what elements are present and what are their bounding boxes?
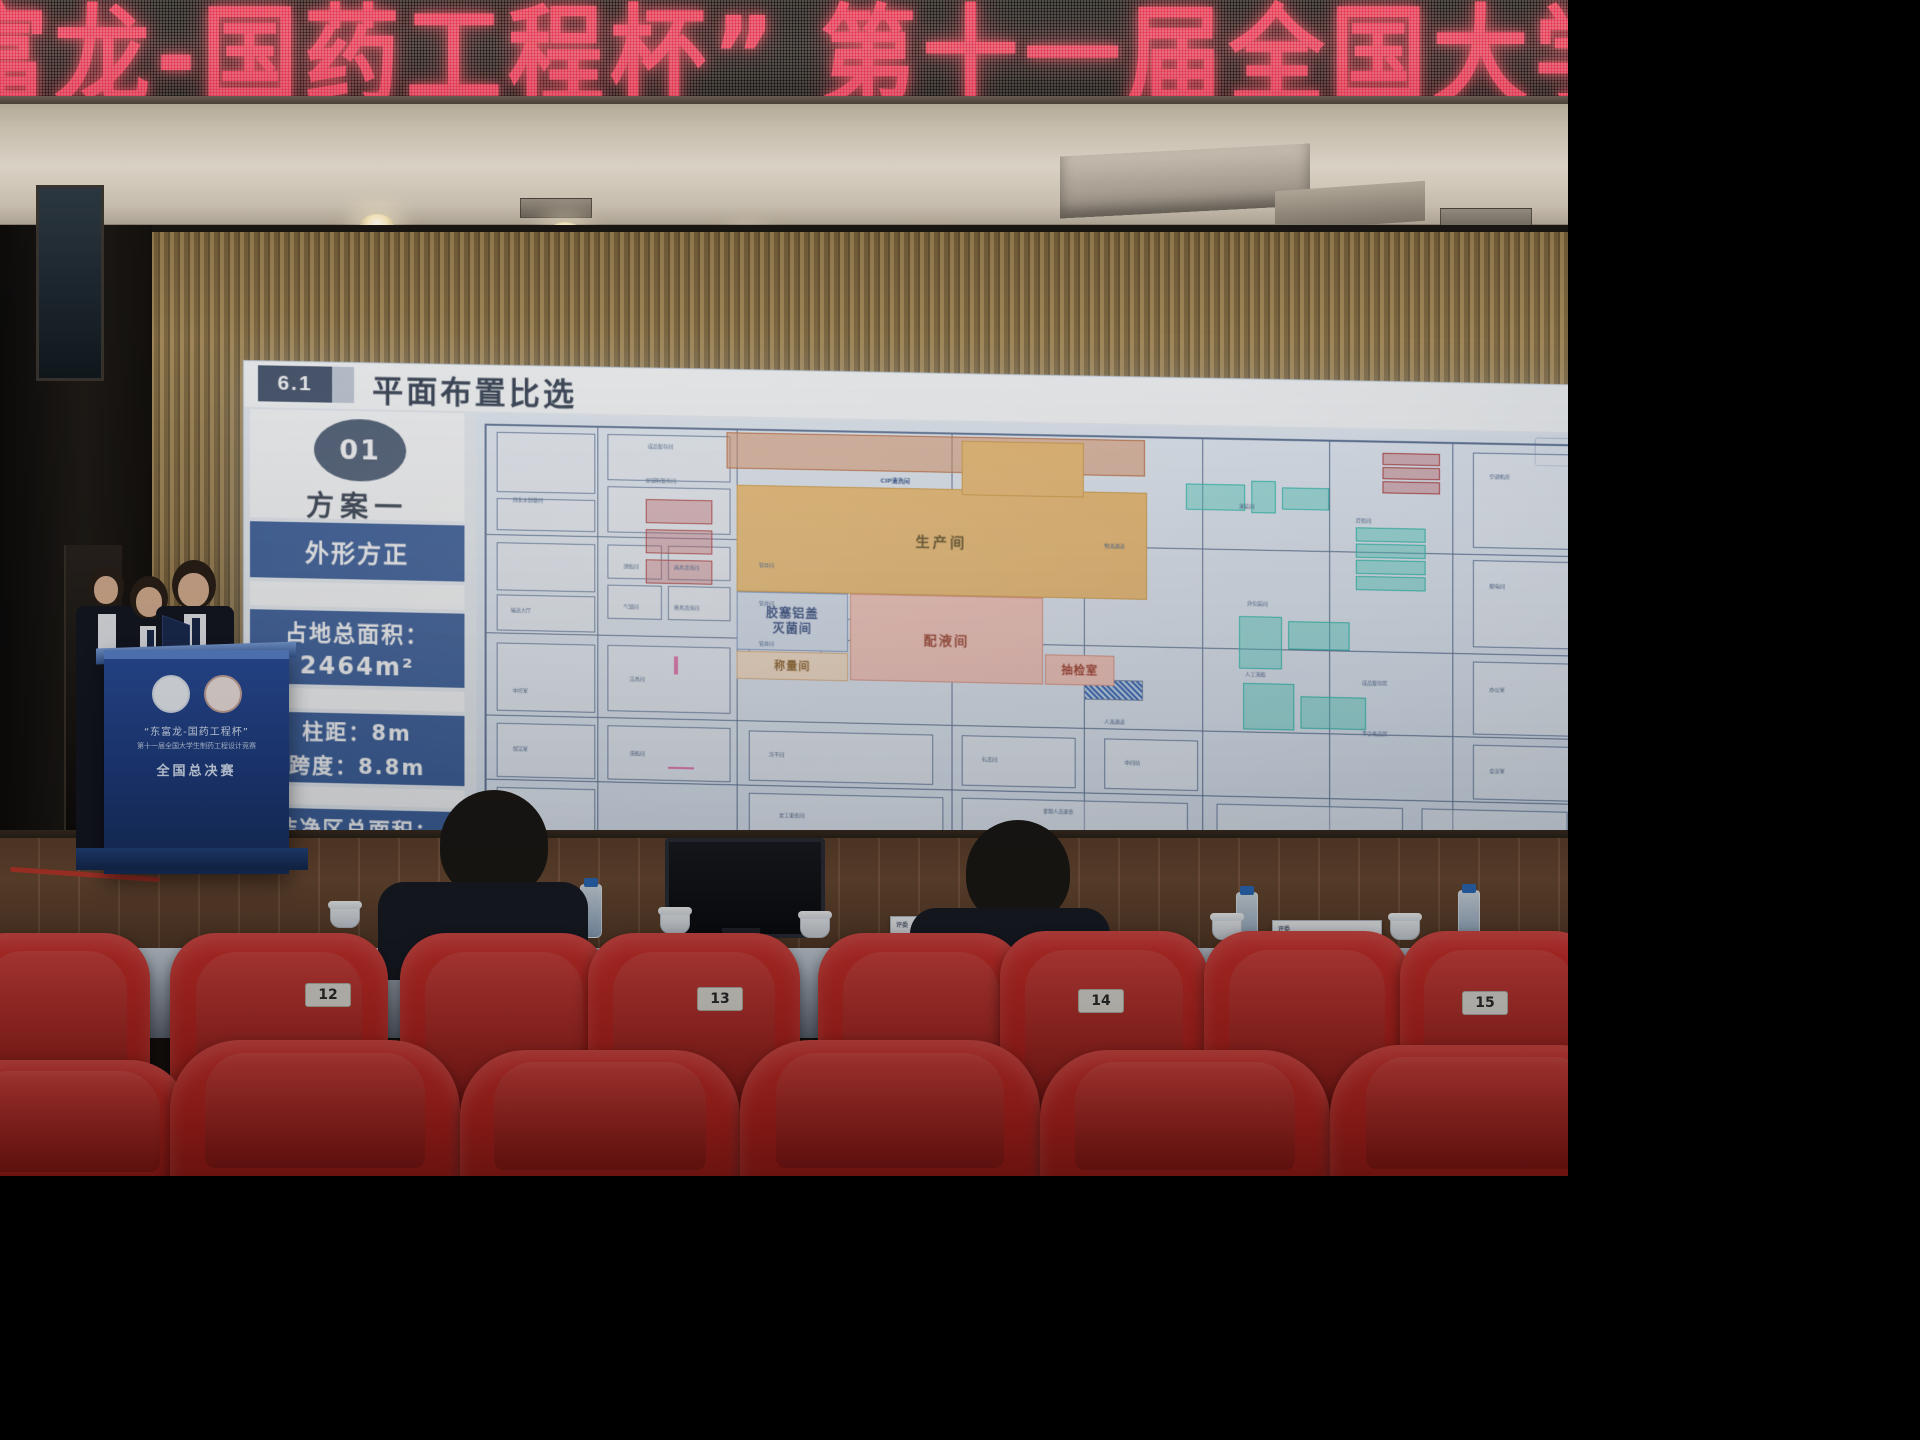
plan-wall xyxy=(485,424,487,835)
ceiling-duct-1 xyxy=(1060,143,1310,218)
plan-room xyxy=(497,542,596,592)
cup-lid xyxy=(798,911,832,919)
front-row-seat xyxy=(0,1060,190,1176)
plan-label: 女工更衣间 xyxy=(779,812,804,820)
plan-room xyxy=(1473,453,1568,550)
slide-section-number: 6.1 xyxy=(258,365,332,402)
plan-room xyxy=(497,723,596,779)
plan-label: 保洁室 xyxy=(513,745,528,752)
plan-equipment xyxy=(1282,487,1329,510)
plan-equipment-alt xyxy=(1382,453,1440,466)
plan-label: 不合格品区 xyxy=(1362,730,1388,738)
plan-room xyxy=(497,642,596,712)
plan-label: 成品暂存间 xyxy=(648,443,673,451)
fact-shape-text: 外形方正 xyxy=(305,533,409,570)
seat-number: 12 xyxy=(305,983,351,1007)
plan-label: 会议室 xyxy=(1489,767,1504,774)
podium-line-3: 全国总决赛 xyxy=(104,760,289,779)
presenter-face xyxy=(94,576,118,604)
plan-label: 办公室 xyxy=(1489,686,1504,693)
conference-hall-photo: 富龙-国药工程杯” 第十一届全国大学生 6.1 平面布置比选 01 方案一 外形… xyxy=(0,0,1568,1176)
plan-label: 中间站 xyxy=(1125,759,1140,766)
ceiling-vent-1 xyxy=(520,198,592,218)
cup-lid xyxy=(1388,913,1422,921)
fact-bay-width: 跨度：8.8m xyxy=(289,749,425,782)
led-banner: 富龙-国药工程杯” 第十一届全国大学生 xyxy=(0,0,1568,108)
plan-equipment xyxy=(1239,616,1282,670)
slide-section-accent xyxy=(332,367,354,403)
plan-room-sampling: 抽检室 xyxy=(1045,654,1114,686)
plan-label: 灯检间 xyxy=(1356,517,1371,524)
scheme-card: 01 方案一 xyxy=(250,409,464,521)
plan-label: 气锁间 xyxy=(624,603,639,610)
plan-label: 管井间 xyxy=(759,562,774,569)
plan-label: 参观人员更衣 xyxy=(1043,808,1074,816)
floor-plan: CIP清洗间 生产间 配液 xyxy=(477,413,1568,871)
plan-room xyxy=(1473,661,1568,736)
plan-label: 成品暂存区 xyxy=(1362,679,1388,687)
plan-equipment xyxy=(1300,696,1366,730)
plan-room xyxy=(607,434,730,483)
plan-room-weighing-label: 称量间 xyxy=(774,658,810,675)
presenter-face xyxy=(178,573,209,607)
front-row-seat xyxy=(460,1050,740,1176)
seat-number-label: 14 xyxy=(1091,993,1110,1009)
plan-equipment-alt xyxy=(1382,467,1440,480)
fact-shape: 外形方正 xyxy=(250,521,464,581)
plan-room xyxy=(962,735,1076,788)
plan-room-production: 生产间 xyxy=(737,485,1147,600)
plan-equipment-alt xyxy=(646,529,713,554)
plan-equipment xyxy=(1356,560,1426,576)
plan-room-weighing: 称量间 xyxy=(737,651,848,682)
plan-room-production-label: 生产间 xyxy=(915,532,967,553)
plan-label: 空调机房 xyxy=(1489,473,1510,481)
plan-room xyxy=(497,498,596,532)
plan-room-stopper-label-2: 灭菌间 xyxy=(773,621,813,637)
plan-equipment xyxy=(1186,483,1245,510)
podium-text: “东富龙-国药工程杯” 第十一届全国大学生制药工程设计竞赛 全国总决赛 xyxy=(104,723,289,779)
plan-room-stopper-sterilization: 胶塞铝盖 灭菌间 xyxy=(737,591,848,652)
plan-label: 物流通道 xyxy=(1104,542,1124,549)
plan-equipment xyxy=(1243,683,1294,731)
fact-area-label: 占地总面积： xyxy=(285,615,429,650)
plan-label: 理瓶间 xyxy=(624,563,639,570)
plan-label: 输送大厅 xyxy=(511,607,531,614)
podium-emblems xyxy=(104,675,289,713)
front-row-seat xyxy=(1330,1045,1568,1176)
seat-number: 13 xyxy=(697,987,743,1011)
plan-room xyxy=(607,725,730,782)
plan-label: 器具清洗间 xyxy=(674,564,699,572)
podium-line-2: 第十一届全国大学生制药工程设计竞赛 xyxy=(104,741,289,751)
plan-wall xyxy=(597,426,598,838)
bottle-cap xyxy=(1462,884,1476,893)
plan-room xyxy=(497,432,596,494)
seat-number: 14 xyxy=(1078,989,1124,1013)
plan-equipment xyxy=(1356,527,1426,543)
plan-label: 中控室 xyxy=(513,687,528,694)
scheme-badge: 01 xyxy=(314,418,406,482)
podium-line-1: “东富龙-国药工程杯” xyxy=(104,723,289,738)
plan-equipment xyxy=(1356,576,1426,592)
plan-room xyxy=(1104,738,1198,791)
plan-room-stopper-label-1: 胶塞铝盖 xyxy=(766,606,819,622)
front-row-seat xyxy=(740,1040,1040,1176)
plan-label: 灌装间 xyxy=(1239,503,1254,510)
plan-label: 管井间 xyxy=(759,600,774,607)
front-row-seat xyxy=(170,1040,460,1176)
plan-room xyxy=(607,585,661,620)
plan-room-dispensing-label: 配液间 xyxy=(924,629,970,649)
cup-lid xyxy=(658,907,692,915)
plan-room xyxy=(1473,745,1568,802)
plan-equipment xyxy=(1288,621,1349,651)
plan-room xyxy=(1473,560,1568,649)
plan-label: 配电间 xyxy=(1489,583,1504,590)
cup-lid xyxy=(1210,913,1244,921)
fact-area-value: 2464m² xyxy=(300,651,415,682)
plan-label: 外包装间 xyxy=(1247,600,1267,608)
plan-equipment-alt xyxy=(646,499,713,524)
slide-title: 平面布置比选 xyxy=(372,365,577,414)
plan-room-sampling-label: 抽检室 xyxy=(1061,662,1098,679)
plan-label: 模具清洗间 xyxy=(674,604,699,612)
plan-room xyxy=(607,645,730,714)
plan-label: 轧盖间 xyxy=(982,756,997,763)
front-row-seat xyxy=(1040,1050,1330,1176)
plan-room-production-ext xyxy=(962,441,1084,498)
seat-number-label: 13 xyxy=(710,991,729,1007)
plan-equipment-alt xyxy=(1382,481,1440,494)
plan-label: 人工洗瓶 xyxy=(1245,671,1265,679)
fact-divider-1 xyxy=(250,581,464,610)
plan-label: 人流通道 xyxy=(1104,718,1124,726)
bottle-cap xyxy=(1240,886,1254,895)
plan-label: 洗瓶间 xyxy=(630,750,645,757)
podium-emblem-contest-icon xyxy=(204,675,242,713)
plan-label-cip: CIP清洗间 xyxy=(880,475,909,485)
left-window xyxy=(36,185,104,381)
seat-number: 15 xyxy=(1462,991,1508,1015)
plan-label: 冻干间 xyxy=(769,751,784,758)
plan-label: 纯化水制备间 xyxy=(513,496,543,504)
cup-lid xyxy=(328,901,362,909)
banner-text: 富龙-国药工程杯” 第十一届全国大学生 xyxy=(0,0,1568,108)
plan-label: 管井间 xyxy=(759,640,774,647)
podium: “东富龙-国药工程杯” 第十一届全国大学生制药工程设计竞赛 全国总决赛 xyxy=(104,650,289,874)
plan-label: 原辅料暂存间 xyxy=(646,477,676,485)
plan-room-dispensing: 配液间 xyxy=(850,594,1043,685)
plan-wall xyxy=(1452,442,1453,858)
plan-equipment xyxy=(1356,543,1426,559)
plan-equipment xyxy=(1251,481,1276,514)
fact-column-spacing: 柱距：8m xyxy=(302,715,412,748)
podium-emblem-school-icon xyxy=(152,675,190,713)
seat-number-label: 12 xyxy=(318,987,337,1003)
plan-label: 洁具间 xyxy=(630,675,645,682)
seat-number-label: 15 xyxy=(1475,995,1494,1011)
podium-base xyxy=(76,848,308,870)
